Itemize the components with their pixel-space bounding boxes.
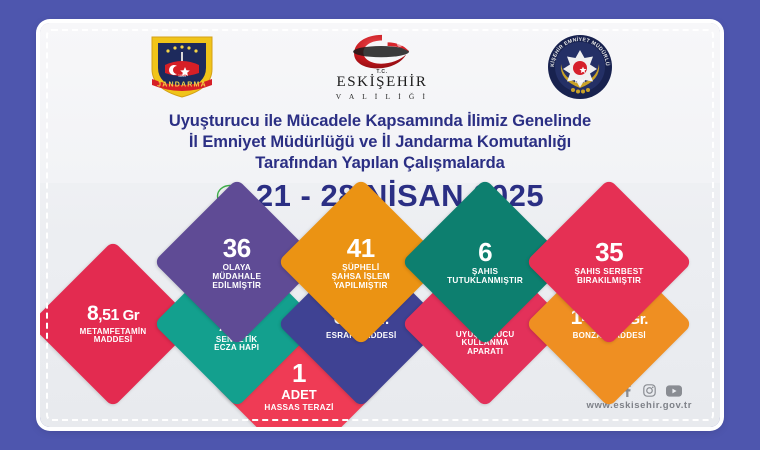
youtube-icon[interactable] — [666, 385, 682, 397]
valilik-mark-icon — [345, 33, 419, 70]
instagram-icon[interactable] — [643, 384, 656, 397]
title-line-3: Tarafından Yapılan Çalışmalarda — [40, 153, 720, 174]
stat-caption: ŞAHISTUTUKLANMIŞTIR — [426, 268, 544, 286]
stats-grid: 36OLAYAMÜDAHALEEDİLMİŞTİR41ŞÜPHELİŞAHSA … — [40, 209, 720, 389]
title-line-1: Uyuşturucu ile Mücadele Kapsamında İlimi… — [40, 111, 720, 132]
title-line-2: İl Emniyet Müdürlüğü ve İl Jandarma Komu… — [40, 132, 720, 153]
stat-value: 41 — [302, 234, 420, 262]
stat-fraction: ,51 — [98, 307, 119, 324]
stat-caption: HASSAS TERAZİ — [240, 404, 358, 413]
page-title: Uyuşturucu ile Mücadele Kapsamında İlimi… — [40, 111, 720, 174]
stat-caption: METAMFETAMİNMADDESİ — [54, 328, 172, 345]
stat-unit-label: ADET — [240, 388, 358, 402]
stat-value: 6 — [426, 238, 544, 266]
stat-value: 35 — [550, 238, 668, 266]
stat-value: 8,51 Gr — [54, 303, 172, 326]
jandarma-logo: JANDARMA 1839 — [147, 35, 217, 99]
svg-text:JANDARMA: JANDARMA — [157, 82, 207, 89]
header-band: JANDARMA 1839 — [40, 23, 720, 183]
stat-value: 36 — [178, 234, 296, 262]
stat-caption: OLAYAMÜDAHALEEDİLMİŞTİR — [178, 264, 296, 291]
valilik-subtitle: V A L İ L İ Ğ İ — [336, 92, 429, 101]
stat-caption: ŞAHIS SERBESTBIRAKILMIŞTIR — [550, 268, 668, 286]
stat-caption: ŞÜPHELİŞAHSA İŞLEMYAPILMIŞTIR — [302, 264, 420, 291]
eskisehir-emniyet-mudurlugu-logo: ESKİŞEHİR EMNİYET MÜDÜRLÜĞÜ EGM — [547, 34, 613, 100]
poster-card: JANDARMA 1839 — [40, 23, 720, 427]
stat-unit: Gr — [119, 307, 139, 324]
valilik-title: ESKİŞEHİR — [336, 75, 427, 91]
eskisehir-valiligi-logo: T.C. ESKİŞEHİR V A L İ L İ Ğ İ — [322, 33, 442, 101]
poster-root: JANDARMA 1839 — [0, 0, 760, 450]
svg-text:1839: 1839 — [178, 74, 186, 78]
svg-text:EGM: EGM — [575, 79, 586, 84]
logo-row: JANDARMA 1839 — [40, 31, 720, 103]
